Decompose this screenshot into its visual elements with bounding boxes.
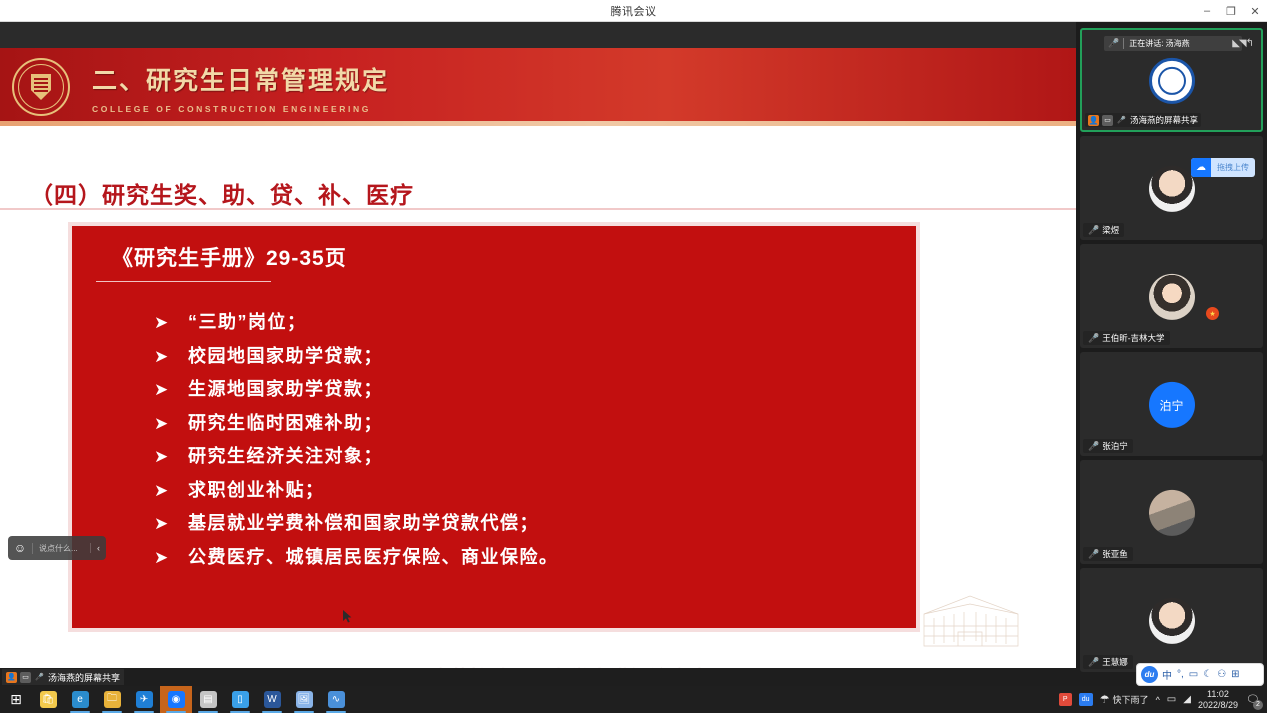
ime-keyboard-icon[interactable]: ▭ <box>1188 669 1199 680</box>
participant-name: 汤海燕的屏幕共享 <box>1130 114 1198 126</box>
bullet-arrow-icon: ➤ <box>154 314 188 331</box>
card-heading: 《研究生手册》29-35页 <box>112 242 347 272</box>
china-flag-icon: ★ <box>1206 307 1219 320</box>
participant-name: 王慧娜 <box>1102 656 1128 668</box>
camera-off-icon: ▭ <box>1102 115 1113 126</box>
mic-icon: 🎤 <box>1116 115 1127 126</box>
photos-icon: 🖼 <box>296 691 313 708</box>
participant-tile[interactable]: 🎤张亚鱼 <box>1080 460 1263 564</box>
baidu-ime-logo-icon[interactable]: du <box>1141 666 1158 683</box>
participant-name: 梁煜 <box>1102 224 1119 236</box>
microsoft-edge-icon: e <box>72 691 89 708</box>
avatar <box>1149 58 1195 104</box>
restore-button[interactable]: ❐ <box>1219 0 1243 22</box>
section-title: （四）研究生奖、助、贷、补、医疗 <box>30 176 414 210</box>
participant-name-chip: 🎤王伯昕-吉林大学 <box>1083 331 1170 345</box>
notification-badge: 2 <box>1253 700 1263 710</box>
ime-moon-icon[interactable]: ☾ <box>1202 669 1213 680</box>
card-rule-divider <box>96 281 271 282</box>
banner-subtitle: COLLEGE OF CONSTRUCTION ENGINEERING <box>92 104 389 114</box>
camera-icon: ▭ <box>20 672 31 683</box>
bullet-arrow-icon: ➤ <box>154 515 188 532</box>
taskbar-foxmail[interactable]: ✈ <box>128 686 160 713</box>
participant-name-chip: 🎤梁煜 <box>1083 223 1124 237</box>
avatar <box>1149 274 1195 320</box>
presentation-slide: 二、研究生日常管理规定 COLLEGE OF CONSTRUCTION ENGI… <box>0 48 1076 668</box>
mic-muted-icon: 🎤 <box>1088 657 1099 668</box>
ime-lang-chinese[interactable]: 中 <box>1161 667 1173 682</box>
start-button-icon: ⊞ <box>8 691 25 708</box>
windows-taskbar[interactable]: ⊞🛍e🗀✈◉▤▯W🖼∿ P du ☂ 快下雨了 ^ ▭ ◢ 11:02 2022… <box>0 686 1267 713</box>
taskbar-start-button[interactable]: ⊞ <box>0 686 32 713</box>
participant-tile[interactable]: ☁拖拽上传🎤梁煜 <box>1080 136 1263 240</box>
drag-upload-label: 拖拽上传 <box>1211 162 1255 173</box>
wifi-icon[interactable]: ◢ <box>1183 694 1191 705</box>
chevron-left-icon[interactable]: ‹ <box>90 543 106 553</box>
avatar <box>1149 490 1195 536</box>
smiley-icon[interactable]: ☺ <box>8 541 32 555</box>
bullet-arrow-icon: ➤ <box>154 381 188 398</box>
clock-date: 2022/8/29 <box>1198 700 1238 710</box>
bullet-label: 公费医疗、城镇居民医疗保险、商业保险。 <box>188 543 559 569</box>
taskbar-file-explorer[interactable]: 🗀 <box>96 686 128 713</box>
taskbar-app-icons[interactable]: ⊞🛍e🗀✈◉▤▯W🖼∿ <box>0 686 352 713</box>
bullet-item: ➤“三助”岗位； <box>154 308 900 334</box>
ime-punctuation-icon[interactable]: °, <box>1176 669 1185 680</box>
college-crest-icon <box>12 58 70 116</box>
weather-widget[interactable]: ☂ 快下雨了 <box>1100 693 1149 706</box>
screen-share-icon: 👤 <box>6 672 17 683</box>
tencent-meeting-icon: ◉ <box>168 691 185 708</box>
taskbar-wps-presentation[interactable]: ▤ <box>192 686 224 713</box>
microsoft-store-icon: 🛍 <box>40 691 57 708</box>
wps-presentation-icon: ▤ <box>200 691 217 708</box>
chat-input[interactable]: 说点什么... <box>32 543 90 554</box>
window-title: 腾讯会议 <box>611 3 657 19</box>
slide-watermark: 疫苗接种现场为学生讲解注意事项 <box>415 666 745 668</box>
microsoft-word-icon: W <box>264 691 281 708</box>
shared-screen-stage: 二、研究生日常管理规定 COLLEGE OF CONSTRUCTION ENGI… <box>0 22 1076 668</box>
bullet-item: ➤求职创业补贴； <box>154 476 900 502</box>
mic-muted-icon: 🎤 <box>1088 549 1099 560</box>
building-sketch-icon <box>918 588 1024 650</box>
system-tray[interactable]: P du ☂ 快下雨了 ^ ▭ ◢ 11:02 2022/8/29 🗨 2 <box>1059 689 1267 710</box>
clock-time: 11:02 <box>1198 689 1238 699</box>
file-explorer-icon: 🗀 <box>104 691 121 708</box>
bullet-item: ➤公费医疗、城镇居民医疗保险、商业保险。 <box>154 543 900 569</box>
taskbar-microsoft-edge[interactable]: e <box>64 686 96 713</box>
participant-tile[interactable]: 泊宁🎤张泊宁 <box>1080 352 1263 456</box>
participant-name-chip: 🎤张泊宁 <box>1083 439 1133 453</box>
taskbar-wechat-phone[interactable]: ▯ <box>224 686 256 713</box>
participant-name: 王伯昕-吉林大学 <box>1102 332 1164 344</box>
wechat-phone-icon: ▯ <box>232 691 249 708</box>
bullet-arrow-icon: ➤ <box>154 348 188 365</box>
participant-tile[interactable]: ★🎤王伯昕-吉林大学 <box>1080 244 1263 348</box>
weather-label: 快下雨了 <box>1113 693 1149 706</box>
baidu-tray-icon[interactable]: du <box>1079 693 1093 706</box>
participant-name-chip: 🎤王慧娜 <box>1083 655 1133 669</box>
bullet-item: ➤研究生经济关注对象； <box>154 442 900 468</box>
ime-toolbar[interactable]: du 中 °, ▭ ☾ ⚇ ⊞ <box>1136 663 1264 686</box>
tray-expand-chevron-icon[interactable]: ^ <box>1156 695 1160 705</box>
banner-title: 二、研究生日常管理规定 <box>92 61 389 97</box>
section-divider <box>0 208 1076 210</box>
speaking-indicator: 🎤正在讲话: 汤海燕 <box>1104 36 1242 51</box>
bullet-label: 校园地国家助学贷款； <box>188 342 383 368</box>
notification-center-icon[interactable]: 🗨 2 <box>1245 691 1261 709</box>
participant-tile[interactable]: 🎤王慧娜 <box>1080 568 1263 672</box>
participant-name: 张亚鱼 <box>1102 548 1128 560</box>
audio-wave-icon: ◣◥↰ <box>1232 38 1253 49</box>
bullet-arrow-icon: ➤ <box>154 415 188 432</box>
content-card-frame: 《研究生手册》29-35页 ➤“三助”岗位；➤校园地国家助学贷款；➤生源地国家助… <box>68 222 920 632</box>
bullet-arrow-icon: ➤ <box>154 482 188 499</box>
bullet-arrow-icon: ➤ <box>154 549 188 566</box>
bullet-list: ➤“三助”岗位；➤校园地国家助学贷款；➤生源地国家助学贷款；➤研究生临时困难补助… <box>154 308 900 576</box>
bullet-label: 基层就业学费补偿和国家助学贷款代偿； <box>188 509 539 535</box>
content-card: 《研究生手册》29-35页 ➤“三助”岗位；➤校园地国家助学贷款；➤生源地国家助… <box>72 226 916 628</box>
umbrella-rain-icon: ☂ <box>1100 693 1110 706</box>
avatar <box>1149 166 1195 212</box>
drag-upload-badge[interactable]: ☁拖拽上传 <box>1191 158 1255 177</box>
bullet-label: 生源地国家助学贷款； <box>188 375 383 401</box>
mic-muted-icon: 🎤 <box>1088 441 1099 452</box>
participant-name-chip: 🎤张亚鱼 <box>1083 547 1133 561</box>
screen-share-chip: 👤▭🎤汤海燕的屏幕共享 <box>1085 113 1201 127</box>
bullet-item: ➤生源地国家助学贷款； <box>154 375 900 401</box>
mouse-cursor-icon <box>343 610 352 623</box>
avatar <box>1149 598 1195 644</box>
bullet-label: 研究生经济关注对象； <box>188 442 383 468</box>
battery-icon[interactable]: ▭ <box>1167 694 1176 705</box>
bullet-item: ➤研究生临时困难补助； <box>154 409 900 435</box>
share-status-bar[interactable]: 👤 ▭ 🎤 汤海燕的屏幕共享 <box>2 669 124 685</box>
bullet-arrow-icon: ➤ <box>154 448 188 465</box>
pdf-icon[interactable]: P <box>1059 693 1072 706</box>
taskbar-tencent-docs[interactable]: ∿ <box>320 686 352 713</box>
mic-muted-icon: 🎤 <box>1088 333 1099 344</box>
bullet-label: 求职创业补贴； <box>188 476 325 502</box>
mic-icon: 🎤 <box>34 672 45 683</box>
screen-root: 腾讯会议 – ❐ ✕ 二、研究生日常管理规定 COLLEGE OF CONSTR… <box>0 0 1267 713</box>
tencent-docs-icon: ∿ <box>328 691 345 708</box>
taskbar-microsoft-store[interactable]: 🛍 <box>32 686 64 713</box>
bullet-item: ➤校园地国家助学贷款； <box>154 342 900 368</box>
participant-name: 张泊宁 <box>1102 440 1128 452</box>
minimize-button[interactable]: – <box>1195 0 1219 22</box>
window-controls: – ❐ ✕ <box>1195 0 1267 22</box>
participant-tile[interactable]: 🎤正在讲话: 汤海燕◣◥↰👤▭🎤汤海燕的屏幕共享 <box>1080 28 1263 132</box>
close-button[interactable]: ✕ <box>1243 0 1267 22</box>
clock-widget[interactable]: 11:02 2022/8/29 <box>1198 689 1238 710</box>
foxmail-icon: ✈ <box>136 691 153 708</box>
slide-banner: 二、研究生日常管理规定 COLLEGE OF CONSTRUCTION ENGI… <box>0 48 1076 126</box>
ime-user-icon[interactable]: ⚇ <box>1216 669 1227 680</box>
speaking-label: 正在讲话: 汤海燕 <box>1123 38 1189 49</box>
avatar: 泊宁 <box>1149 382 1195 428</box>
window-titlebar: 腾讯会议 – ❐ ✕ <box>0 0 1267 22</box>
screen-share-icon: 👤 <box>1088 115 1099 126</box>
banner-text-block: 二、研究生日常管理规定 COLLEGE OF CONSTRUCTION ENGI… <box>92 61 389 114</box>
cloud-upload-icon: ☁ <box>1191 158 1211 177</box>
taskbar-photos[interactable]: 🖼 <box>288 686 320 713</box>
taskbar-microsoft-word[interactable]: W <box>256 686 288 713</box>
taskbar-tencent-meeting[interactable]: ◉ <box>160 686 192 713</box>
participant-rail[interactable]: 🎤正在讲话: 汤海燕◣◥↰👤▭🎤汤海燕的屏幕共享☁拖拽上传🎤梁煜★🎤王伯昕-吉林… <box>1076 22 1267 668</box>
mic-muted-icon: 🎤 <box>1088 225 1099 236</box>
ime-grid-icon[interactable]: ⊞ <box>1230 669 1240 680</box>
chat-input-pill[interactable]: ☺ 说点什么... ‹ <box>8 536 106 560</box>
bullet-label: 研究生临时困难补助； <box>188 409 383 435</box>
bullet-label: “三助”岗位； <box>188 308 307 334</box>
share-status-label: 汤海燕的屏幕共享 <box>48 671 120 684</box>
mic-muted-icon: 🎤 <box>1108 38 1119 49</box>
bullet-item: ➤基层就业学费补偿和国家助学贷款代偿； <box>154 509 900 535</box>
